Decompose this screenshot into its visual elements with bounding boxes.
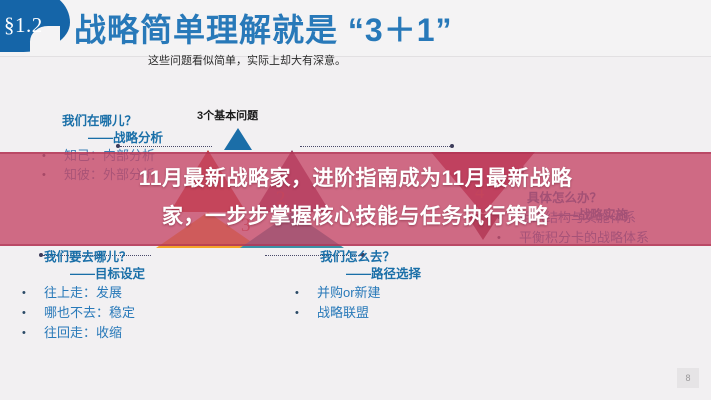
page-subtitle: 这些问题看似简单，实际上却大有深意。 <box>148 52 346 68</box>
bullet-text: 并购or新建 <box>317 285 381 300</box>
bullet-dot-icon: • <box>22 283 44 303</box>
bullet-dot-icon: • <box>295 303 317 323</box>
pyramid-apex-triangle <box>224 128 252 150</box>
block-how-to-go-heading: 我们怎么去？ ——路径选择 <box>320 249 421 283</box>
overlay-banner-top-rule <box>0 152 711 154</box>
connector-dot-top-right <box>450 144 454 148</box>
bullet-text: 战略联盟 <box>317 305 369 320</box>
block-where-to-go-heading: 我们要去哪儿？ ——目标设定 <box>44 249 145 283</box>
connector-line-top-right <box>300 146 450 147</box>
connector-dot-bottom-left <box>39 253 43 257</box>
block-how-to-go-heading-line2: ——路径选择 <box>320 266 421 283</box>
section-badge-label: §1.2 <box>4 13 66 38</box>
block-where-to-go-heading-line1: 我们要去哪儿？ <box>44 250 132 264</box>
block-where-are-we-heading-line2: ——战略分析 <box>62 130 163 147</box>
page-number-chip: 8 <box>677 368 699 388</box>
slide-header-divider <box>0 56 711 57</box>
block-where-to-go-bullet-3: •往回走：收缩 <box>22 323 122 343</box>
block-how-to-go-bullet-2: •战略联盟 <box>295 303 369 323</box>
block-how-to-go-heading-line1: 我们怎么去？ <box>320 250 395 264</box>
block-where-to-go-heading-line2: ——目标设定 <box>44 266 145 283</box>
page-title: 战略简单理解就是 “3＋1” <box>74 5 453 51</box>
pyramid-basic-label: 3个基本问题 <box>197 107 258 123</box>
bullet-dot-icon: • <box>22 323 44 343</box>
overlay-banner-line-2: 家，一步步掌握核心技能与任务执行策略 <box>28 198 683 236</box>
bullet-dot-icon: • <box>22 303 44 323</box>
bullet-text: 往上走：发展 <box>44 285 122 300</box>
block-where-are-we-heading: 我们在哪儿？ ——战略分析 <box>62 113 163 147</box>
block-where-are-we-heading-line1: 我们在哪儿？ <box>62 114 137 128</box>
overlay-banner-text: 11月最新战略家，进阶指南成为11月最新战略 家，一步步掌握核心技能与任务执行策… <box>28 160 683 236</box>
overlay-banner-line-1: 11月最新战略家，进阶指南成为11月最新战略 <box>28 160 683 198</box>
bullet-text: 往回走：收缩 <box>44 325 122 340</box>
block-how-to-go-bullet-1: •并购or新建 <box>295 283 381 303</box>
block-where-to-go-bullet-2: •哪也不去：稳定 <box>22 303 135 323</box>
bullet-text: 哪也不去：稳定 <box>44 305 135 320</box>
slide-screenshot: §1.2 战略简单理解就是 “3＋1” 这些问题看似简单，实际上却大有深意。 3… <box>0 0 711 400</box>
block-where-to-go-bullet-1: •往上走：发展 <box>22 283 122 303</box>
bullet-dot-icon: • <box>295 283 317 303</box>
overlay-banner-bottom-rule <box>0 244 711 246</box>
